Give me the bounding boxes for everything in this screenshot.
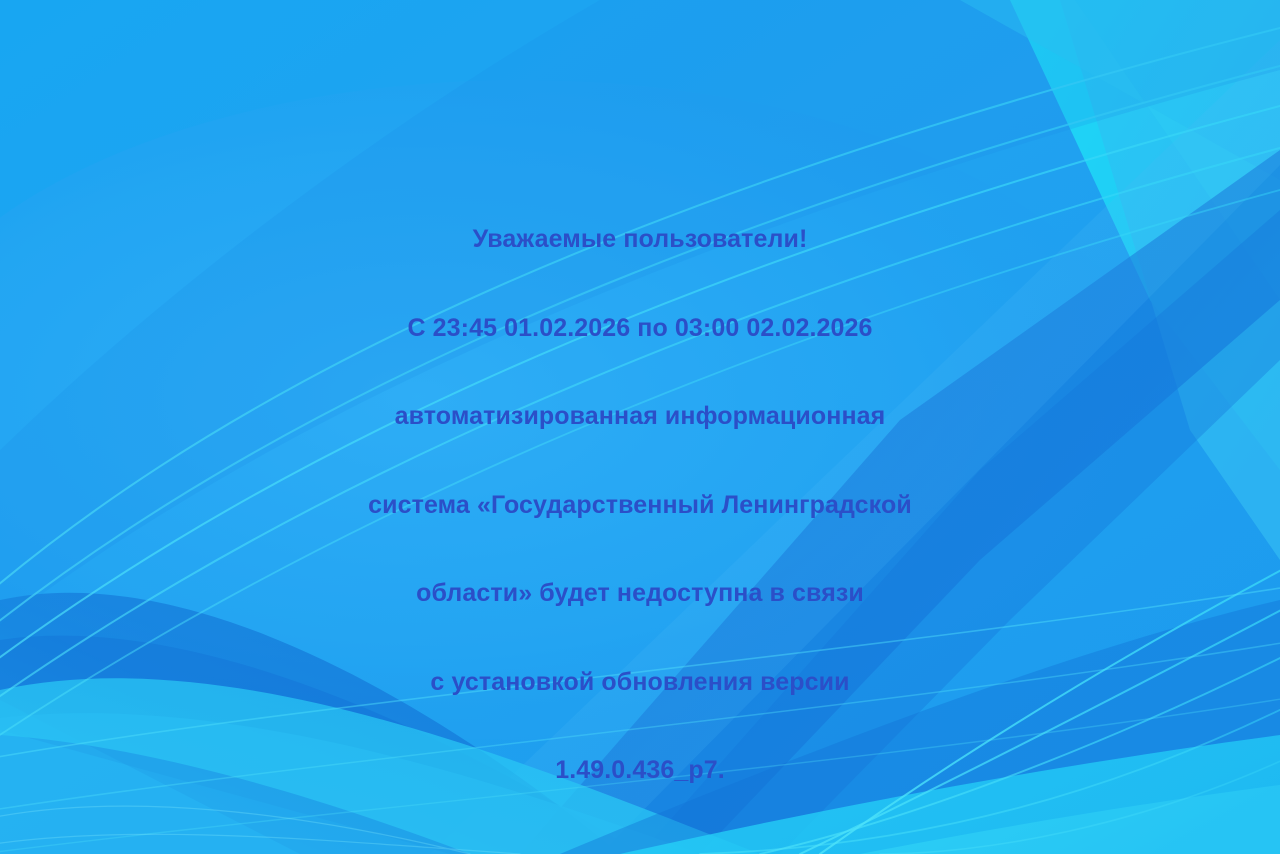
abstract-blue-background — [0, 0, 1280, 854]
maintenance-notice-screen: Уважаемые пользователи! С 23:45 01.02.20… — [0, 0, 1280, 854]
